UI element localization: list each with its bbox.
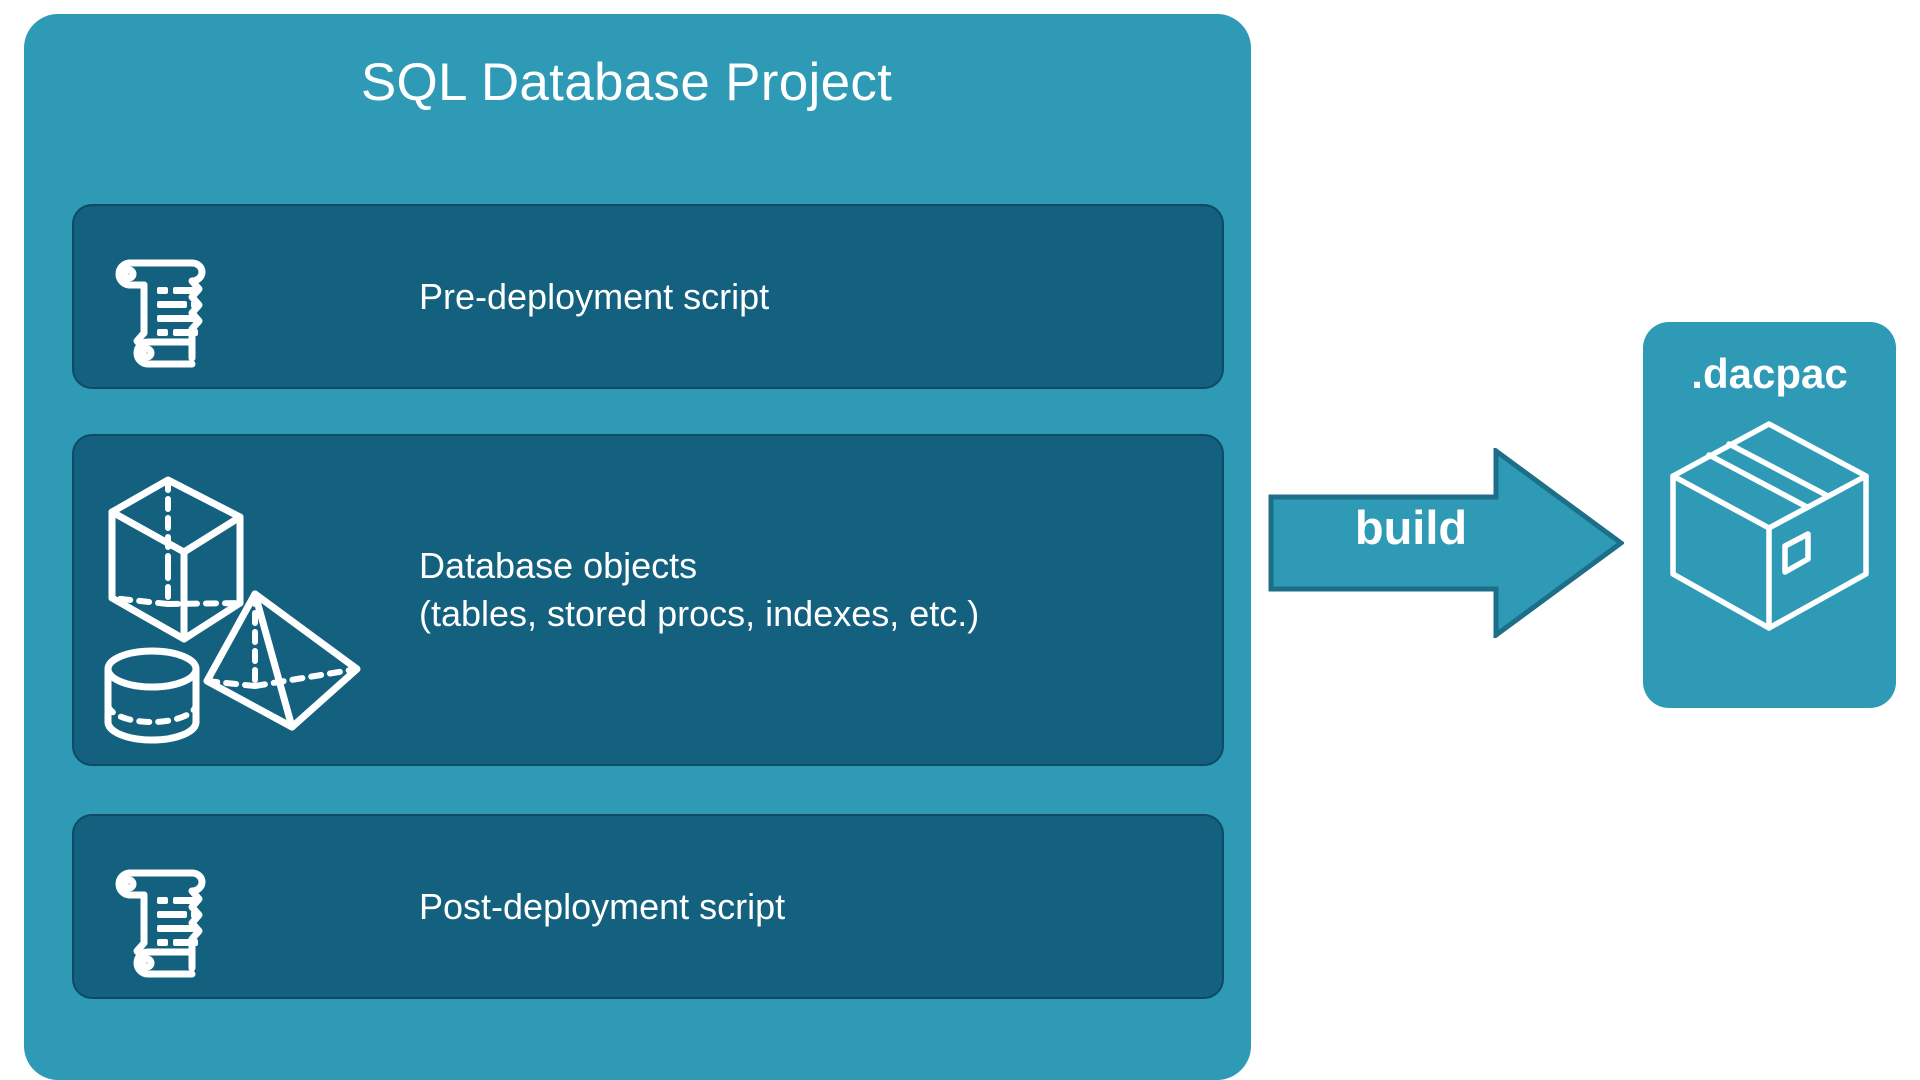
panel-label-pre-deployment: Pre-deployment script [419, 273, 769, 321]
dacpac-output-card: .dacpac [1643, 322, 1896, 708]
diagram-canvas: SQL Database Project [0, 0, 1920, 1080]
geometric-shapes-icon [92, 464, 382, 744]
panel-database-objects: Database objects (tables, stored procs, … [72, 434, 1224, 766]
cube-icon [112, 480, 240, 639]
scroll-icon [96, 230, 236, 370]
pyramid-icon [207, 594, 357, 727]
panel-label-database-objects: Database objects (tables, stored procs, … [419, 542, 979, 638]
page-title: SQL Database Project [24, 52, 1229, 113]
scroll-icon [96, 840, 236, 980]
panel-label-post-deployment: Post-deployment script [419, 883, 785, 931]
cylinder-icon [108, 651, 196, 740]
package-box-icon [1667, 418, 1872, 634]
panel-pre-deployment-script: Pre-deployment script [72, 204, 1224, 389]
panel-post-deployment-script: Post-deployment script [72, 814, 1224, 999]
dacpac-label: .dacpac [1643, 350, 1896, 398]
build-arrow-label: build [1296, 500, 1526, 555]
sql-database-project-container: SQL Database Project [24, 14, 1251, 1080]
